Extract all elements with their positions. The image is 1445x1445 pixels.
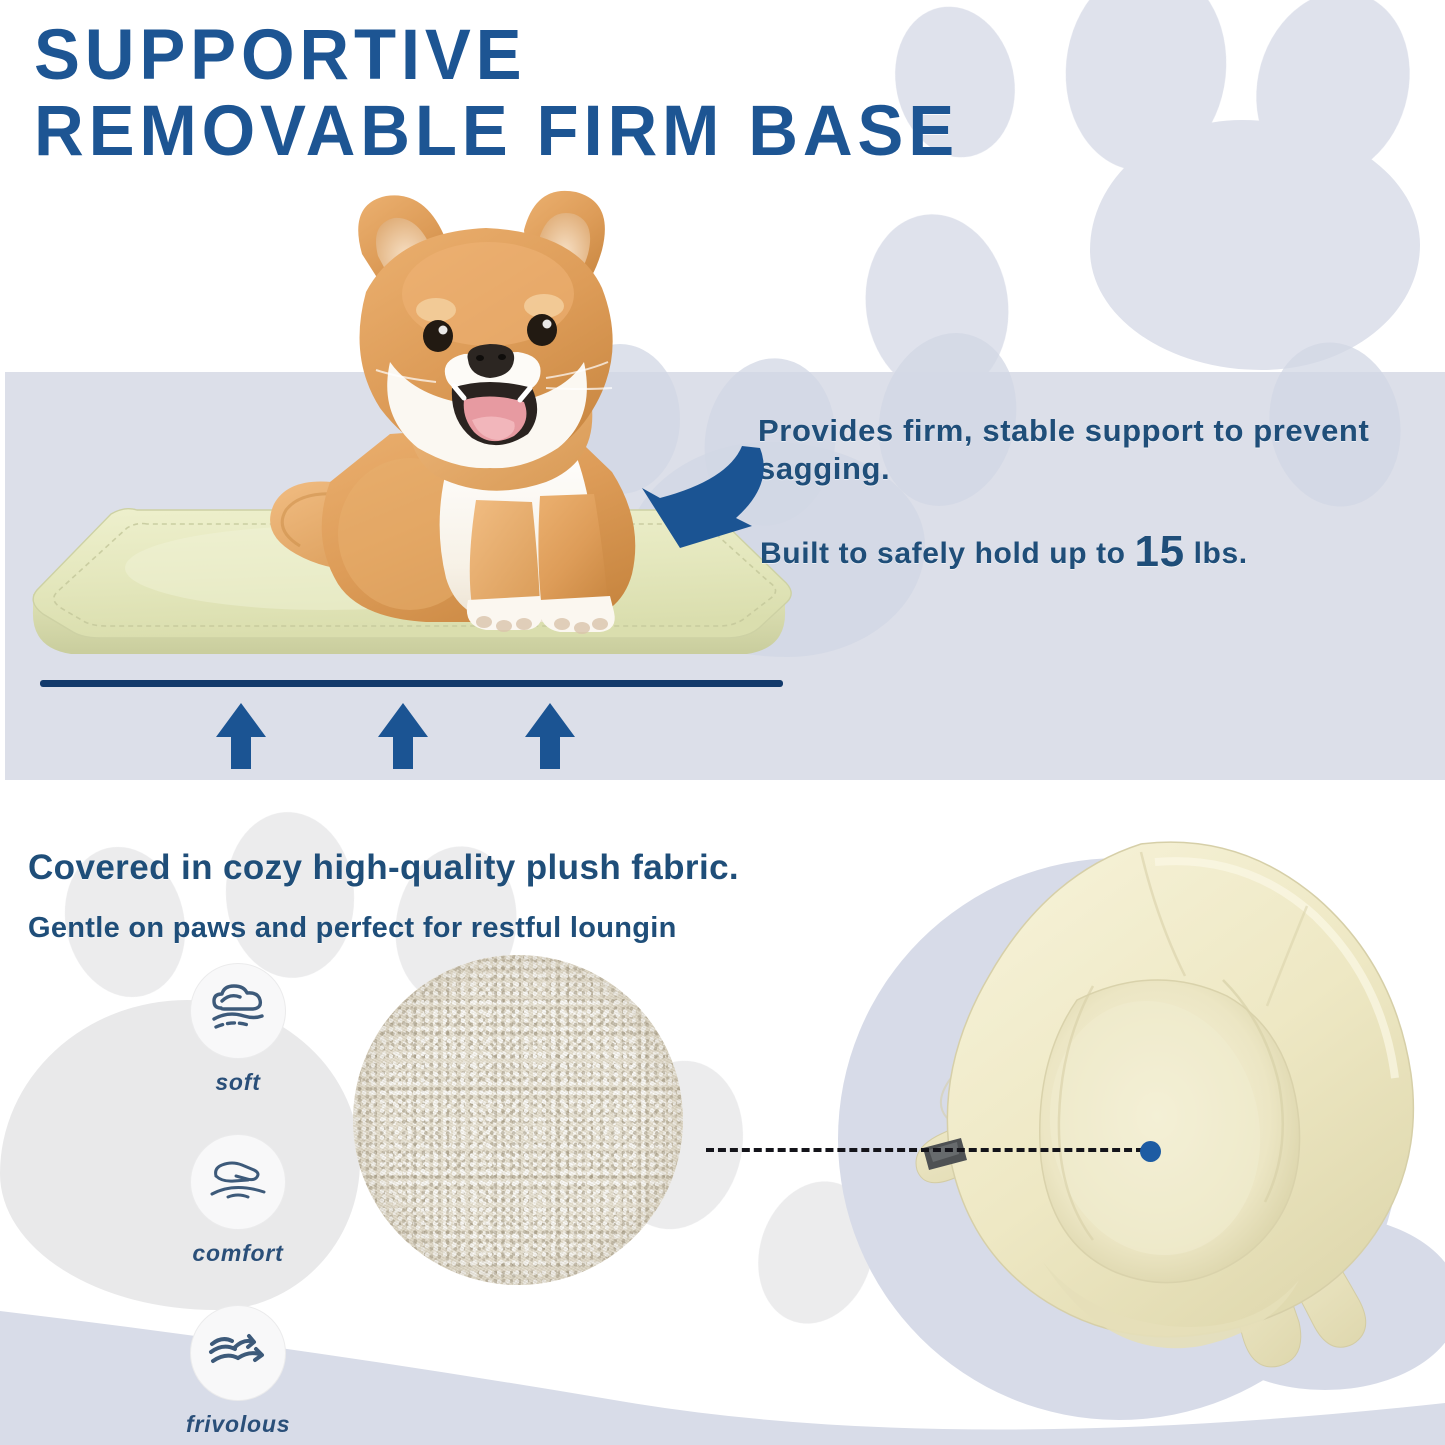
page-title: SUPPORTIVE REMOVABLE FIRM BASE (34, 18, 1364, 170)
feature-list: soft comfort (186, 963, 290, 1445)
lower-heading: Covered in cozy high-quality plush fabri… (28, 848, 739, 888)
feature-icon-circle (190, 1134, 286, 1230)
feature-icon-circle (190, 1305, 286, 1401)
callout-weight-prefix: Built to safely hold up to (760, 537, 1135, 570)
paw-watermark-pad (0, 1000, 360, 1310)
feature-label: frivolous (186, 1411, 290, 1438)
title-line-1: SUPPORTIVE (34, 18, 1324, 94)
shiba-inu-puppy-photo (240, 182, 710, 642)
title-line-2: REMOVABLE FIRM BASE (34, 94, 1324, 170)
feature-item-soft[interactable]: soft (186, 963, 290, 1096)
feature-item-frivolous[interactable]: frivolous (186, 1305, 290, 1438)
callout-support-text: Provides firm, stable support to prevent… (758, 412, 1418, 488)
lower-subheading: Gentle on paws and perfect for restful l… (28, 912, 677, 945)
callout-weight-suffix: lbs. (1185, 537, 1248, 570)
support-arrow-up (378, 703, 428, 769)
infographic-page: SUPPORTIVE REMOVABLE FIRM BASE (0, 0, 1445, 1445)
hand-curve-icon (208, 1154, 268, 1211)
feature-item-comfort[interactable]: comfort (186, 1134, 290, 1267)
support-arrow-up (525, 703, 575, 769)
breeze-arrows-icon (208, 1328, 268, 1379)
support-base-line (40, 680, 783, 687)
connector-dashed-line (706, 1148, 1144, 1152)
cream-plush-dog-bed-photo (855, 810, 1445, 1410)
feature-icon-circle (190, 963, 286, 1059)
callout-weight-number: 15 (1135, 527, 1185, 576)
feature-label: comfort (186, 1240, 290, 1267)
curved-pointer-arrow-icon (624, 440, 776, 552)
swatch-texture-overlay (353, 955, 683, 1285)
cloud-wave-icon (208, 983, 268, 1040)
paw-watermark-toe (220, 808, 359, 983)
plush-fabric-swatch (353, 955, 683, 1285)
connector-endpoint-dot (1140, 1141, 1161, 1162)
callout-weight-text: Built to safely hold up to 15 lbs. (760, 530, 1420, 574)
feature-label: soft (186, 1069, 290, 1096)
support-arrow-up (216, 703, 266, 769)
